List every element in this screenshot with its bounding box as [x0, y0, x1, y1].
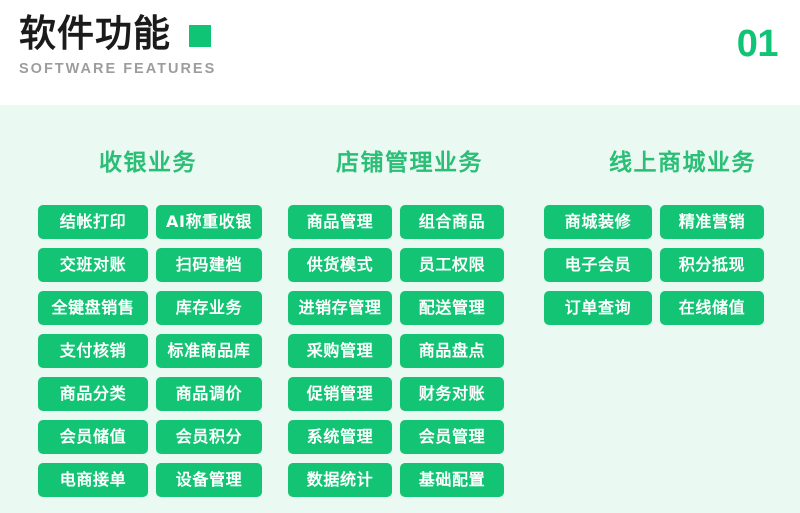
tag-row: 会员储值 会员积分: [38, 420, 308, 454]
feature-tag[interactable]: 采购管理: [288, 334, 392, 368]
feature-tag[interactable]: 交班对账: [38, 248, 148, 282]
feature-tag[interactable]: 财务对账: [400, 377, 504, 411]
feature-tag[interactable]: 设备管理: [156, 463, 262, 497]
tag-row: 商城装修 精准营销: [544, 205, 800, 239]
tag-row: 系统管理 会员管理: [288, 420, 553, 454]
feature-tag[interactable]: 支付核销: [38, 334, 148, 368]
title-block: 软件功能 SOFTWARE FEATURES: [19, 12, 216, 77]
feature-column-cashier: 收银业务 结帐打印 AI称重收银 交班对账 扫码建档 全键盘销售 库存业务: [0, 105, 270, 513]
column-title-store-management: 店铺管理业务: [277, 149, 542, 177]
feature-tag[interactable]: 促销管理: [288, 377, 392, 411]
feature-tag[interactable]: 数据统计: [288, 463, 392, 497]
feature-tag[interactable]: 结帐打印: [38, 205, 148, 239]
feature-tag[interactable]: 供货模式: [288, 248, 392, 282]
feature-tag[interactable]: 商品调价: [156, 377, 262, 411]
tag-row: 交班对账 扫码建档: [38, 248, 308, 282]
tag-grid-store-management: 商品管理 组合商品 供货模式 员工权限 进销存管理 配送管理 采购管理 商品盘点: [270, 205, 553, 497]
tag-grid-cashier: 结帐打印 AI称重收银 交班对账 扫码建档 全键盘销售 库存业务 支付核销 标准…: [0, 205, 308, 497]
feature-tag[interactable]: 会员管理: [400, 420, 504, 454]
slide-root: 软件功能 SOFTWARE FEATURES 01 收银业务 结帐打印 AI称重…: [0, 0, 800, 513]
features-band: 收银业务 结帐打印 AI称重收银 交班对账 扫码建档 全键盘销售 库存业务: [0, 105, 800, 513]
column-title-cashier: 收银业务: [13, 149, 283, 177]
tag-grid-online-mall: 商城装修 精准营销 电子会员 积分抵现 订单查询 在线储值: [535, 205, 800, 325]
tag-row: 电商接单 设备管理: [38, 463, 308, 497]
tag-row: 进销存管理 配送管理: [288, 291, 553, 325]
feature-tag[interactable]: 组合商品: [400, 205, 504, 239]
slide-header: 软件功能 SOFTWARE FEATURES 01: [0, 0, 800, 105]
tag-row: 结帐打印 AI称重收银: [38, 205, 308, 239]
feature-tag[interactable]: 系统管理: [288, 420, 392, 454]
feature-tag[interactable]: 标准商品库: [156, 334, 262, 368]
feature-tag[interactable]: 员工权限: [400, 248, 504, 282]
tag-row: 采购管理 商品盘点: [288, 334, 553, 368]
page-subtitle: SOFTWARE FEATURES: [19, 61, 216, 77]
title-row: 软件功能: [19, 12, 216, 56]
tag-row: 订单查询 在线储值: [544, 291, 800, 325]
tag-row: 数据统计 基础配置: [288, 463, 553, 497]
page-title: 软件功能: [19, 12, 171, 56]
tag-row: 电子会员 积分抵现: [544, 248, 800, 282]
column-title-online-mall: 线上商城业务: [550, 149, 800, 177]
feature-columns: 收银业务 结帐打印 AI称重收银 交班对账 扫码建档 全键盘销售 库存业务: [0, 105, 800, 513]
feature-tag[interactable]: 电商接单: [38, 463, 148, 497]
feature-tag[interactable]: 精准营销: [660, 205, 764, 239]
tag-row: 全键盘销售 库存业务: [38, 291, 308, 325]
tag-row: 支付核销 标准商品库: [38, 334, 308, 368]
accent-square-icon: [189, 25, 211, 47]
feature-tag[interactable]: 会员储值: [38, 420, 148, 454]
feature-tag[interactable]: 商城装修: [544, 205, 652, 239]
tag-row: 促销管理 财务对账: [288, 377, 553, 411]
feature-tag[interactable]: 库存业务: [156, 291, 262, 325]
feature-tag[interactable]: 在线储值: [660, 291, 764, 325]
feature-tag[interactable]: 商品盘点: [400, 334, 504, 368]
feature-tag[interactable]: 会员积分: [156, 420, 262, 454]
feature-tag[interactable]: AI称重收银: [156, 205, 262, 239]
feature-tag[interactable]: 配送管理: [400, 291, 504, 325]
feature-tag[interactable]: 扫码建档: [156, 248, 262, 282]
feature-tag[interactable]: 电子会员: [544, 248, 652, 282]
feature-column-online-mall: 线上商城业务 商城装修 精准营销 电子会员 积分抵现 订单查询 在线储值: [535, 105, 800, 513]
feature-tag[interactable]: 进销存管理: [288, 291, 392, 325]
feature-tag[interactable]: 订单查询: [544, 291, 652, 325]
feature-tag[interactable]: 积分抵现: [660, 248, 764, 282]
feature-tag[interactable]: 商品分类: [38, 377, 148, 411]
feature-column-store-management: 店铺管理业务 商品管理 组合商品 供货模式 员工权限 进销存管理 配送管理: [270, 105, 535, 513]
tag-row: 商品分类 商品调价: [38, 377, 308, 411]
tag-row: 商品管理 组合商品: [288, 205, 553, 239]
section-number: 01: [737, 22, 778, 66]
feature-tag[interactable]: 基础配置: [400, 463, 504, 497]
feature-tag[interactable]: 商品管理: [288, 205, 392, 239]
feature-tag[interactable]: 全键盘销售: [38, 291, 148, 325]
tag-row: 供货模式 员工权限: [288, 248, 553, 282]
